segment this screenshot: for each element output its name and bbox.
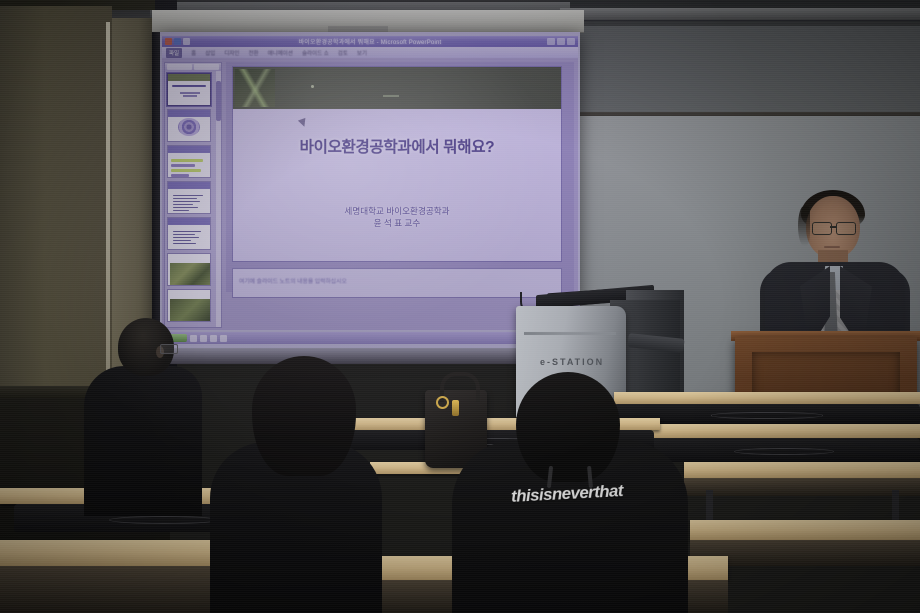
- slide-subtitle-line-1: 세명대학교 바이오환경공학과: [233, 205, 561, 217]
- ppt-title-bar: 바이오환경공학과에서 뭐해요 - Microsoft PowerPoint: [162, 36, 578, 47]
- attendee-1-glasses: [160, 344, 178, 354]
- speaker-glasses-left-lens: [812, 222, 832, 235]
- thumbnail-scroll-handle[interactable]: [216, 81, 221, 121]
- window-controls[interactable]: [547, 38, 575, 45]
- desk-front-2: [684, 478, 920, 496]
- thumb-sub-line: [180, 92, 200, 94]
- desk-row-back: [614, 392, 920, 404]
- slide-thumbnail-1[interactable]: [167, 73, 211, 106]
- thumbnail-list[interactable]: [167, 73, 215, 325]
- ppt-title-text: 바이오환경공학과에서 뭐해요 - Microsoft PowerPoint: [299, 37, 442, 46]
- menu-item-file[interactable]: 파일: [166, 48, 182, 58]
- maximize-icon[interactable]: [557, 38, 565, 45]
- banner-foliage: [235, 69, 275, 107]
- slide-content-body: 바이오환경공학과에서 뭐해요? 세명대학교 바이오환경공학과 윤 석 표 교수: [233, 109, 561, 262]
- menu-item-insert[interactable]: 삽입: [205, 49, 215, 57]
- banner-streak: [383, 95, 399, 97]
- taskbar-icon-3[interactable]: [210, 335, 217, 342]
- undo-icon[interactable]: [174, 38, 181, 45]
- upper-wall: [560, 26, 920, 122]
- desk-row-front-right: [690, 520, 920, 540]
- powerpoint-window[interactable]: 바이오환경공학과에서 뭐해요 - Microsoft PowerPoint 파일…: [160, 32, 580, 332]
- thumb-bullets: [173, 195, 203, 213]
- taskbar-icon-1[interactable]: [190, 335, 197, 342]
- thumb-banner: [168, 182, 210, 189]
- thumb-title-line: [172, 85, 206, 87]
- attendee-1-body: [84, 366, 202, 516]
- banner-speck: [311, 85, 314, 88]
- slide-thumbnail-pane[interactable]: [164, 62, 222, 328]
- thumb-banner: [168, 110, 210, 117]
- desk-row-3: [648, 424, 920, 438]
- tab-slides[interactable]: [167, 64, 192, 70]
- slide-title-text: 바이오환경공학과에서 뭐해요?: [233, 135, 561, 157]
- save-icon[interactable]: [165, 38, 172, 45]
- handbag-clasp: [452, 400, 459, 416]
- thumb-photo: [170, 263, 210, 285]
- handbag-ring: [436, 396, 449, 409]
- speaker-glasses-right-lens: [836, 222, 856, 235]
- ceiling-rail-right: [560, 8, 920, 20]
- projection-screen: 바이오환경공학과에서 뭐해요 - Microsoft PowerPoint 파일…: [160, 32, 580, 350]
- slide-thumbnail-4[interactable]: [167, 181, 211, 214]
- thumbnail-scrollbar[interactable]: [216, 71, 221, 328]
- taskbar-icon-4[interactable]: [220, 335, 227, 342]
- redo-icon[interactable]: [183, 38, 190, 45]
- speaker-hair-side: [798, 206, 810, 246]
- taskbar-icon-2[interactable]: [200, 335, 207, 342]
- thumb-photo: [170, 299, 210, 321]
- menu-item-view[interactable]: 보기: [357, 49, 367, 57]
- thumb-banner: [168, 218, 210, 225]
- thumb-banner: [168, 74, 210, 81]
- quick-access-toolbar[interactable]: [165, 38, 190, 45]
- attendee-2-hair: [252, 356, 356, 476]
- current-slide[interactable]: 바이오환경공학과에서 뭐해요? 세명대학교 바이오환경공학과 윤 석 표 교수: [232, 66, 562, 262]
- chair-back-2: [648, 438, 920, 462]
- notes-placeholder-text: 여기에 슬라이드 노트의 내용을 입력하십시오: [239, 276, 347, 285]
- close-icon[interactable]: [567, 38, 575, 45]
- desk-row-2: [684, 462, 920, 478]
- speaker-glasses-bridge: [830, 226, 836, 228]
- menu-item-review[interactable]: 검토: [338, 49, 348, 57]
- slide-thumbnail-5[interactable]: [167, 217, 211, 250]
- menu-item-animations[interactable]: 애니메이션: [268, 49, 293, 57]
- blind-light-seam: [106, 22, 110, 390]
- tab-outline[interactable]: [194, 64, 219, 70]
- slide-subtitle-line-2: 윤 석 표 교수: [233, 217, 561, 229]
- lecture-hall-photo: 바이오환경공학과에서 뭐해요 - Microsoft PowerPoint 파일…: [0, 0, 920, 613]
- window-blind-panel-left: [0, 6, 112, 390]
- thumb-diagram: [178, 118, 200, 136]
- cart-brand-label: e-STATION: [540, 357, 604, 367]
- slide-thumbnail-2[interactable]: [167, 109, 211, 142]
- slide-thumbnail-3[interactable]: [167, 145, 211, 178]
- thumb-bullets: [173, 231, 201, 246]
- thumb-sub-line-2: [183, 95, 197, 97]
- cart-seam: [524, 332, 616, 335]
- thumbnail-tabs[interactable]: [165, 63, 221, 71]
- speaker-mouth: [824, 246, 840, 248]
- thumb-highlight-blocks: [171, 159, 209, 175]
- minimize-icon[interactable]: [547, 38, 555, 45]
- slide-thumbnail-6[interactable]: [167, 253, 211, 286]
- menu-item-slideshow[interactable]: 슬라이드 쇼: [302, 49, 329, 57]
- menu-item-transitions[interactable]: 전환: [249, 49, 259, 57]
- slide-thumbnail-7[interactable]: [167, 289, 211, 322]
- ppt-menu-bar[interactable]: 파일 홈 삽입 디자인 전환 애니메이션 슬라이드 쇼 검토 보기: [162, 47, 578, 58]
- menu-item-design[interactable]: 디자인: [224, 49, 239, 57]
- chair-handle-slot: [734, 448, 834, 455]
- chair-handle-slot: [109, 516, 219, 524]
- thumb-banner: [168, 146, 210, 153]
- slide-notes-pane[interactable]: 여기에 슬라이드 노트의 내용을 입력하십시오: [232, 268, 562, 298]
- chair-handle-slot: [711, 412, 823, 418]
- attendee-3-hair: [516, 372, 620, 482]
- menu-item-home[interactable]: 홈: [191, 49, 196, 57]
- projector-screen-housing: [152, 10, 584, 33]
- slide-banner-image: [233, 67, 561, 109]
